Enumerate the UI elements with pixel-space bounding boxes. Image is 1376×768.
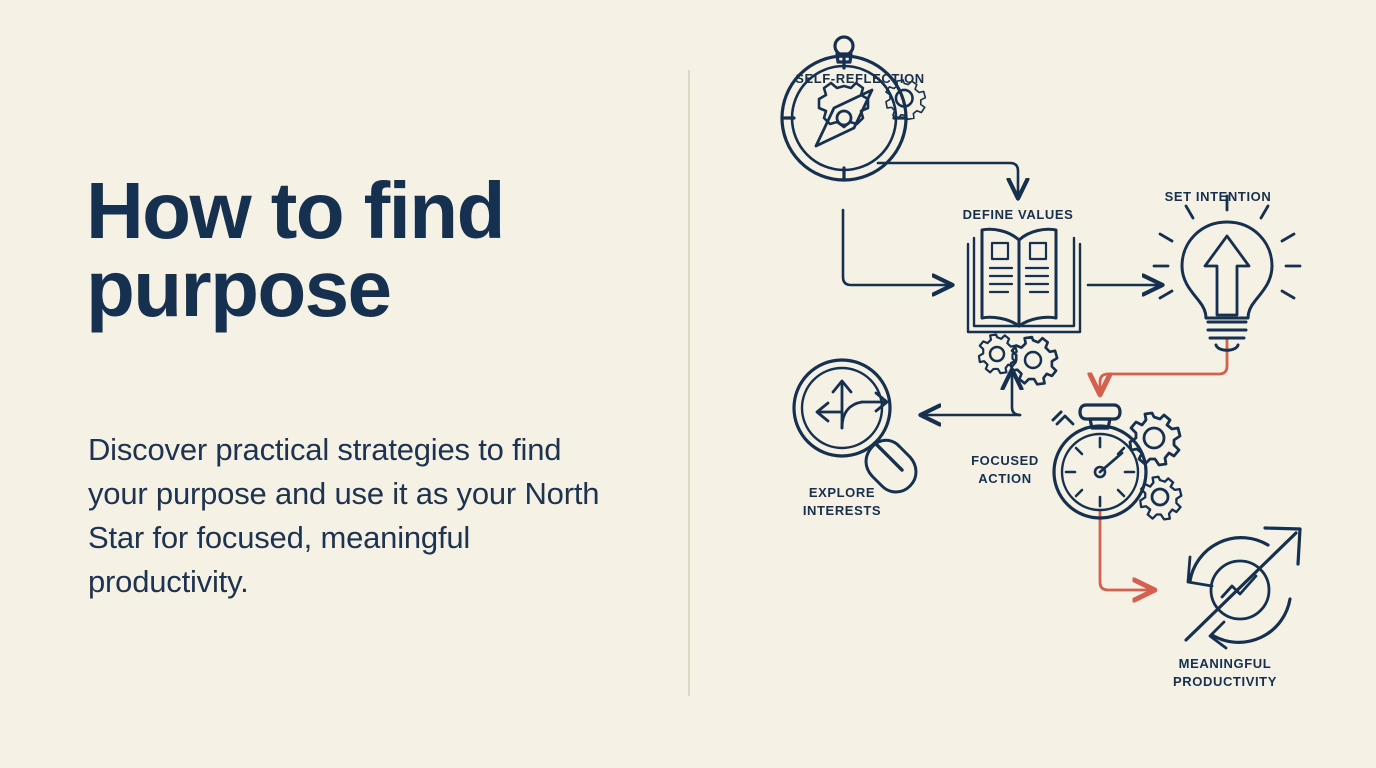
magnifier-branching-arrows-icon xyxy=(794,360,916,492)
label-meaningful-productivity: MEANINGFUL PRODUCTIVITY xyxy=(1140,655,1310,690)
compass-gear-icon xyxy=(782,37,925,180)
text-panel: How to find purpose Discover practical s… xyxy=(86,0,646,768)
label-focused-action: FOCUSED ACTION xyxy=(950,452,1060,487)
connector-self-to-define-left xyxy=(843,210,950,285)
page-title: How to find purpose xyxy=(86,172,626,329)
slide-canvas: How to find purpose Discover practical s… xyxy=(0,0,1376,768)
vertical-divider xyxy=(688,70,690,696)
label-set-intention: SET INTENTION xyxy=(1138,188,1298,206)
open-book-gears-icon xyxy=(968,229,1080,384)
connector-focused-to-productivity xyxy=(1100,512,1152,590)
diagram-svg xyxy=(720,0,1376,768)
label-define-values: DEFINE VALUES xyxy=(948,206,1088,224)
connector-intention-to-focused xyxy=(1100,338,1227,392)
label-self-reflection: SELF-REFLECTION xyxy=(770,70,950,88)
lightbulb-arrow-icon xyxy=(1154,196,1300,350)
label-explore-interests: EXPLORE INTERESTS xyxy=(762,484,922,519)
purpose-flow-diagram: SELF-REFLECTION DEFINE VALUES SET INTENT… xyxy=(720,0,1376,768)
stopwatch-gears-icon xyxy=(1053,405,1181,519)
cycle-growth-arrow-icon xyxy=(1186,528,1300,648)
page-subtitle: Discover practical strategies to find yo… xyxy=(88,428,618,604)
connector-self-to-define-top xyxy=(878,163,1018,196)
